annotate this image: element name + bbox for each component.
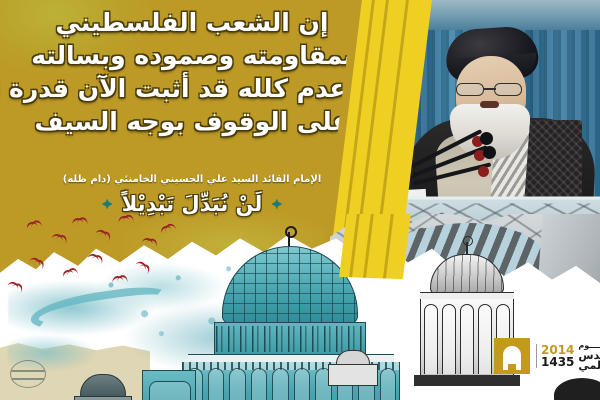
- bird-icon: [117, 215, 129, 223]
- bird-icon: [142, 237, 154, 244]
- quds-day-poster: إن الشعب الفلسطيني بمقاومته وصموده وبسال…: [0, 0, 600, 400]
- quote-line-3: وعدم كلله قد أثبت الآن قدرة الدماء: [22, 72, 362, 105]
- bird-icon: [25, 220, 37, 229]
- diamond-ornament-right-icon: [271, 199, 282, 210]
- glasses-icon: [454, 83, 530, 96]
- dome-lattice: [222, 246, 358, 324]
- quote-block: إن الشعب الفلسطيني بمقاومته وصموده وبسال…: [22, 6, 362, 138]
- quds-day-logo: يــــوم القدس العالمي 2014 1435: [494, 338, 600, 374]
- chain-dome-plinth: [414, 375, 520, 386]
- bird-icon: [51, 233, 63, 241]
- logo-years: 2014 1435: [536, 344, 574, 368]
- yellow-band-tail: [339, 214, 413, 279]
- dome-portico: [142, 370, 196, 400]
- verse-row: لَنْ نُبَدِّلَ تَبْدِيْلاً: [22, 192, 362, 216]
- side-dome: [74, 374, 132, 400]
- quote-line-1: إن الشعب الفلسطيني: [22, 6, 362, 39]
- quote-line-4: على الوقوف بوجه السيف: [22, 105, 362, 138]
- corner-watermark-stamp: [10, 360, 46, 388]
- bird-icon: [95, 228, 107, 237]
- year-hijri: 1435: [541, 356, 574, 368]
- diamond-ornament-left-icon: [102, 199, 113, 210]
- chain-dome-ribs: [430, 254, 504, 294]
- quote-line-2: بمقاومته وصموده وبسالته: [22, 39, 362, 72]
- microphone-cap-2: [483, 146, 496, 159]
- microphone-head-3: [478, 166, 489, 177]
- speaker-mouth: [480, 101, 499, 108]
- bird-icon: [72, 217, 84, 224]
- logo-line-3: العالمي: [578, 361, 600, 371]
- bird-icon: [112, 275, 124, 283]
- quote-attribution: الإمام القائد السيد علي الحسيني الخامنئي…: [22, 174, 362, 185]
- logo-wordmark: يــــوم القدس العالمي: [578, 341, 600, 371]
- quran-verse: لَنْ نُبَدِّلَ تَبْدِيْلاً: [122, 192, 263, 216]
- microphone-cap-1: [480, 132, 493, 145]
- small-outbuilding: [328, 350, 378, 386]
- dome-drum-windows: [216, 326, 364, 352]
- dome-arch-mark-icon: [494, 338, 530, 374]
